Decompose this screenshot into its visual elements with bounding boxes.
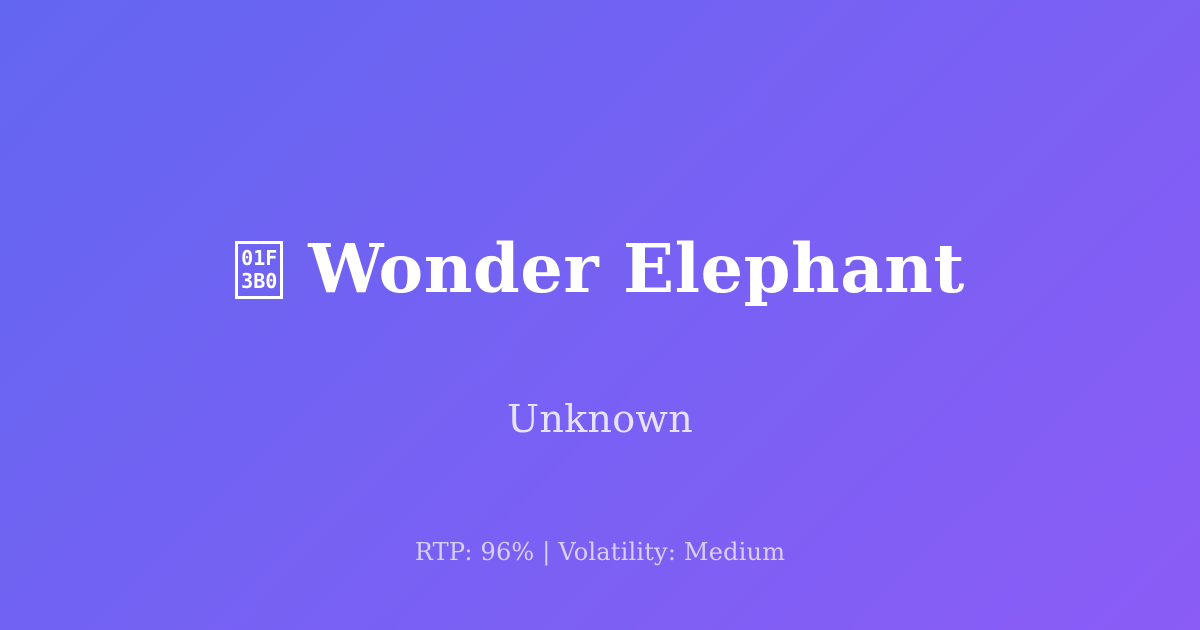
tofu-codepoint-bottom: 3B0 xyxy=(241,270,277,293)
tofu-codepoint-top: 01F xyxy=(241,247,277,270)
game-stats-footer: RTP: 96% | Volatility: Medium xyxy=(0,538,1200,566)
og-card: 01F 3B0 Wonder Elephant Unknown RTP: 96%… xyxy=(0,0,1200,630)
provider-subtitle: Unknown xyxy=(507,397,693,441)
page-title: Wonder Elephant xyxy=(308,234,965,304)
slot-machine-icon: 01F 3B0 xyxy=(235,241,283,299)
title-row: 01F 3B0 Wonder Elephant xyxy=(235,189,965,349)
